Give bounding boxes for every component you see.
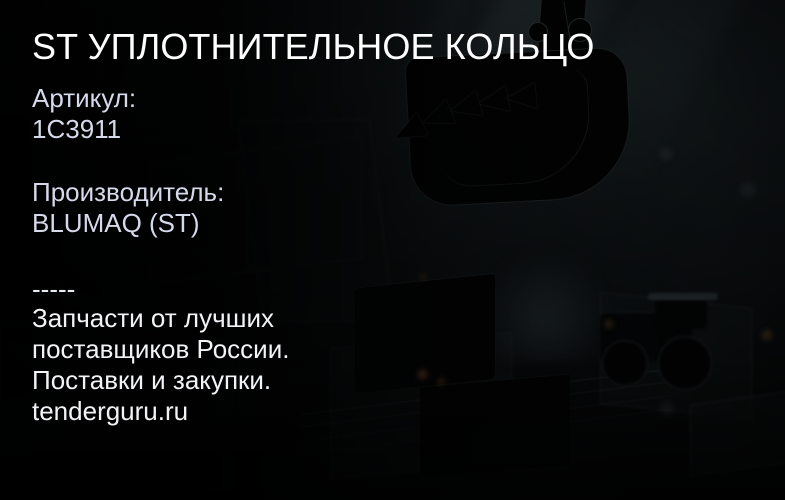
- tagline-line-2: поставщиков России.: [32, 334, 289, 365]
- divider-dashes: -----: [32, 274, 75, 305]
- manufacturer-value: BLUMAQ (ST): [32, 208, 224, 239]
- site-url[interactable]: tenderguru.ru: [32, 396, 289, 427]
- manufacturer-label: Производитель:: [32, 177, 224, 207]
- tagline-block: Запчасти от лучших поставщиков России. П…: [32, 303, 289, 427]
- article-value: 1C3911: [32, 114, 136, 145]
- article-label: Артикул:: [32, 83, 136, 113]
- article-field: Артикул: 1C3911: [32, 83, 136, 145]
- product-banner: ST УПЛОТНИТЕЛЬНОЕ КОЛЬЦО Артикул: 1C3911…: [0, 0, 785, 500]
- tagline-line-1: Запчасти от лучших: [32, 303, 289, 334]
- banner-content: ST УПЛОТНИТЕЛЬНОЕ КОЛЬЦО Артикул: 1C3911…: [0, 0, 785, 500]
- product-title: ST УПЛОТНИТЕЛЬНОЕ КОЛЬЦО: [32, 26, 595, 68]
- manufacturer-field: Производитель: BLUMAQ (ST): [32, 177, 224, 239]
- tagline-line-3: Поставки и закупки.: [32, 365, 289, 396]
